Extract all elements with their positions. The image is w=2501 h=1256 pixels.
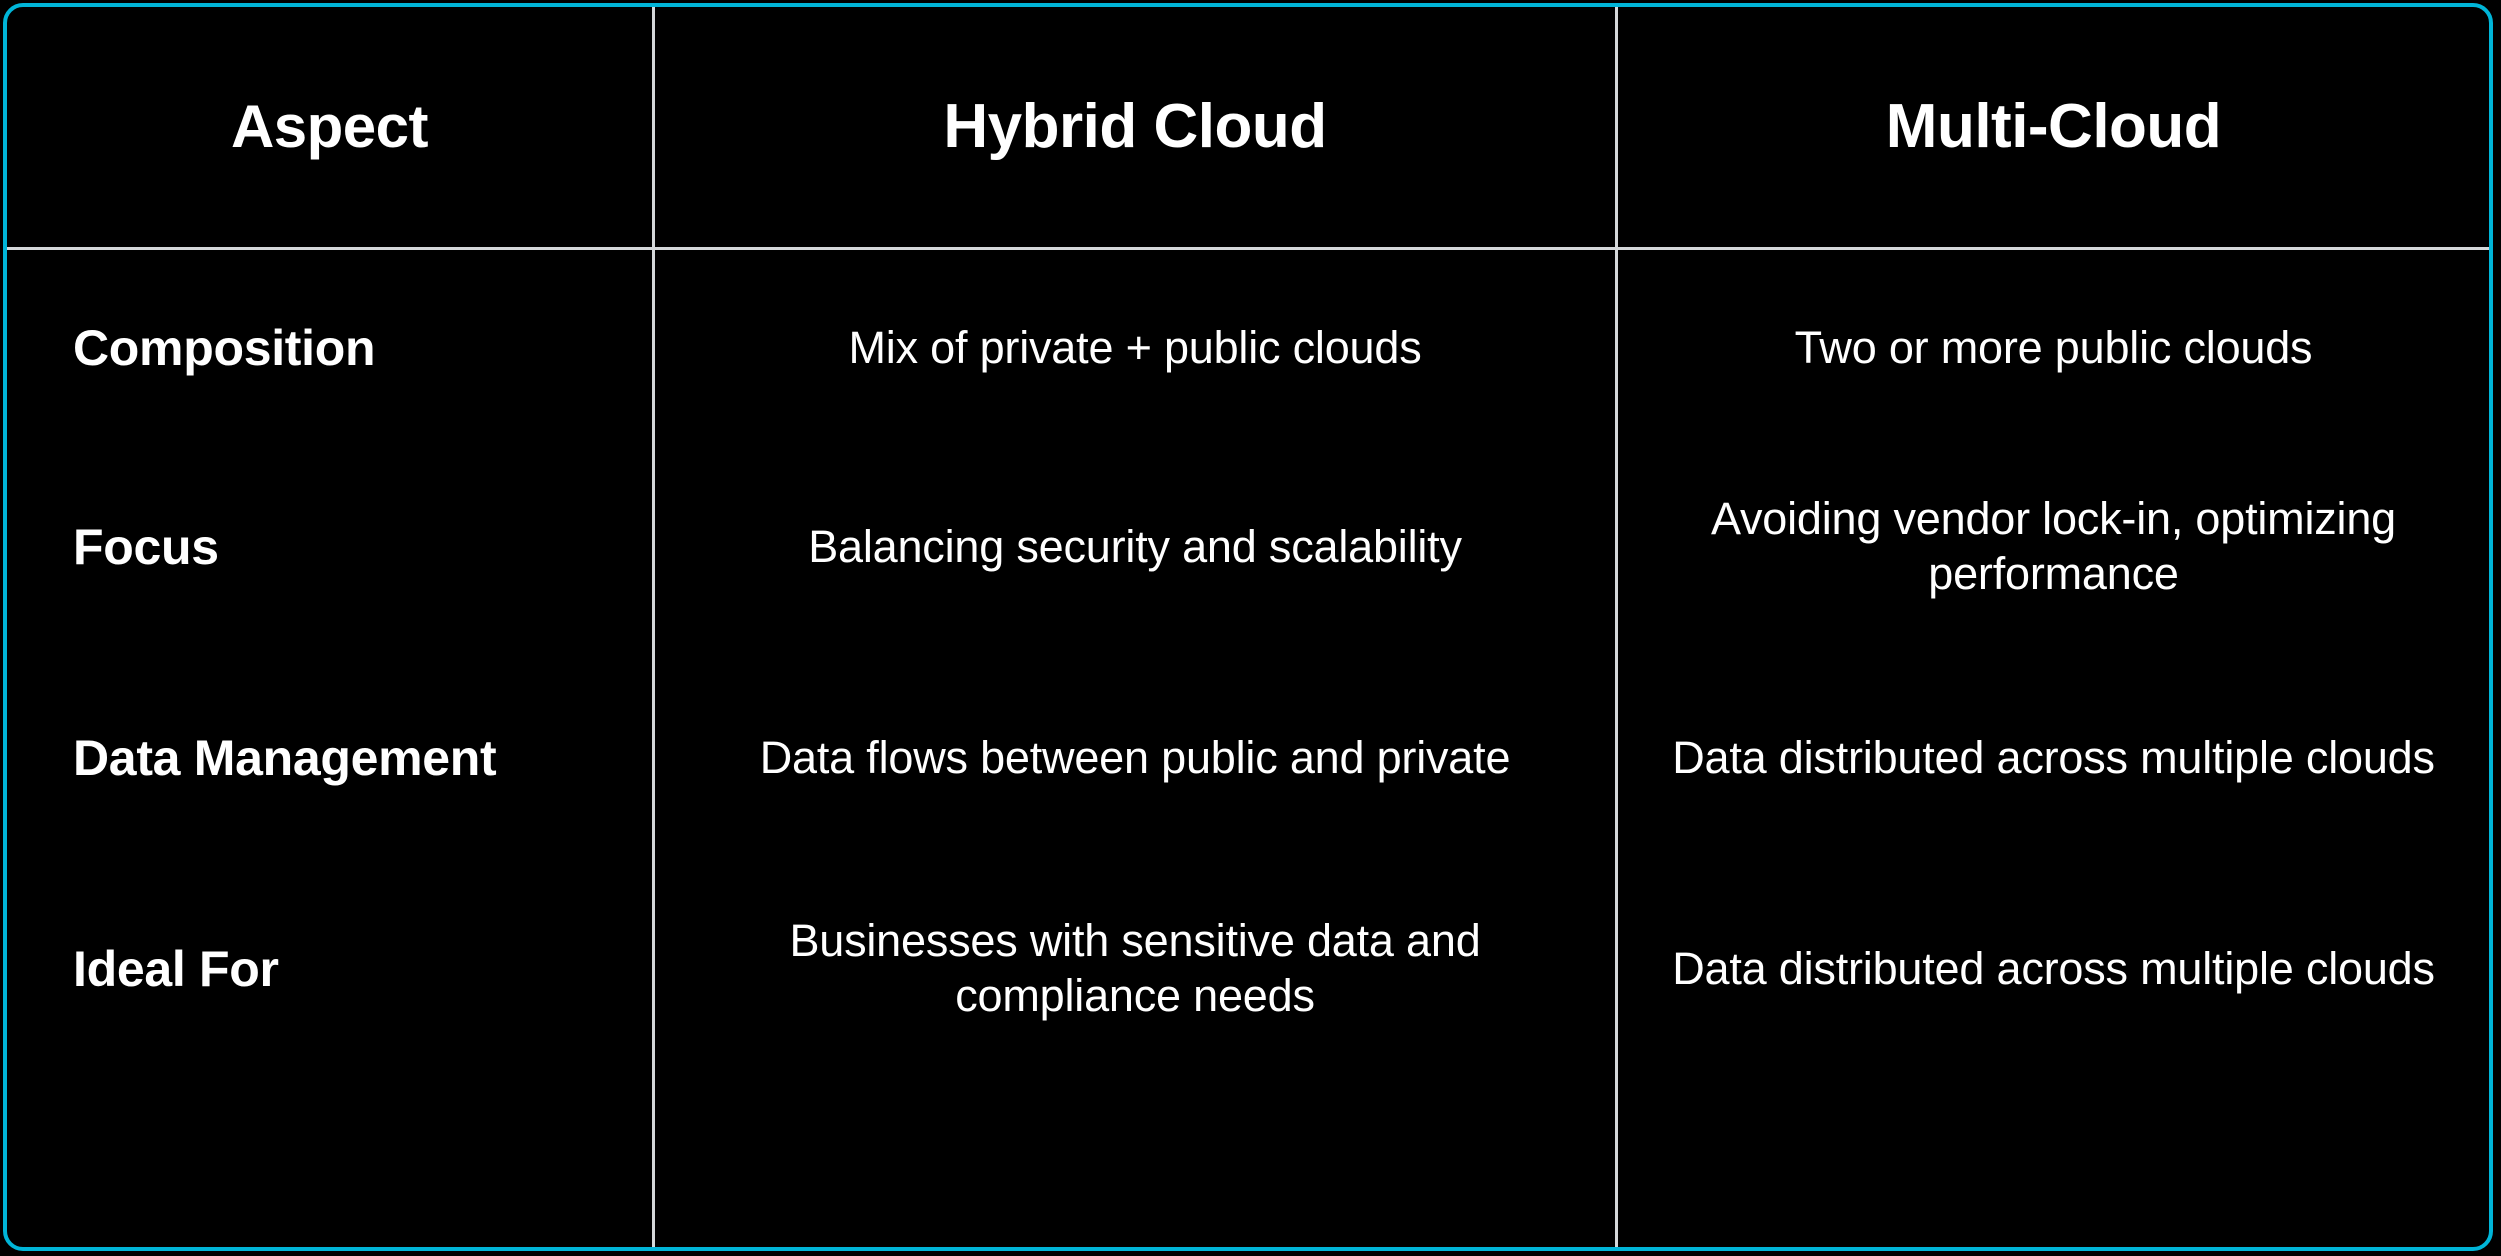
cell-multi-focus: Avoiding vendor lock-in, optimizing perf… xyxy=(1644,492,2463,602)
column-header-hybrid-cloud: Hybrid Cloud xyxy=(652,7,1615,247)
cell-aspect-data-management: Data Management xyxy=(73,728,496,789)
column-header-multi-cloud-label: Multi-Cloud xyxy=(1886,93,2221,161)
table-column-multi-cloud-filler xyxy=(1618,1069,2489,1247)
table-column-hybrid-cloud-filler xyxy=(655,1069,1615,1247)
cell-multi-composition: Two or more public clouds xyxy=(1795,321,2313,376)
cell-multi-ideal-for: Data distributed across multiple clouds xyxy=(1672,942,2435,997)
table-row: Data distributed across multiple clouds xyxy=(1618,869,2489,1069)
column-header-multi-cloud: Multi-Cloud xyxy=(1615,7,2489,247)
table-row: Mix of private + public clouds xyxy=(655,250,1615,447)
comparison-table-page: Aspect Hybrid Cloud Multi-Cloud Composit… xyxy=(0,0,2501,1256)
column-header-aspect: Aspect xyxy=(7,7,652,247)
table-row: Data Management xyxy=(7,647,652,869)
cell-hybrid-ideal-for: Businesses with sensitive data and compl… xyxy=(681,914,1589,1024)
comparison-table: Aspect Hybrid Cloud Multi-Cloud Composit… xyxy=(3,3,2493,1251)
table-row: Businesses with sensitive data and compl… xyxy=(655,869,1615,1069)
table-row: Balancing security and scalability xyxy=(655,447,1615,647)
cell-hybrid-data-management: Data flows between public and private xyxy=(760,731,1511,786)
cell-hybrid-composition: Mix of private + public clouds xyxy=(848,321,1421,376)
table-column-hybrid-cloud: Mix of private + public clouds Balancing… xyxy=(652,250,1615,1247)
cell-multi-data-management: Data distributed across multiple clouds xyxy=(1672,731,2435,786)
cell-aspect-composition: Composition xyxy=(73,318,375,379)
table-row: Two or more public clouds xyxy=(1618,250,2489,447)
table-row: Data flows between public and private xyxy=(655,647,1615,869)
table-column-aspect: Composition Focus Data Management Ideal … xyxy=(7,250,652,1247)
table-row: Focus xyxy=(7,447,652,647)
column-header-hybrid-cloud-label: Hybrid Cloud xyxy=(943,93,1326,161)
column-header-aspect-label: Aspect xyxy=(231,94,428,160)
table-header-row: Aspect Hybrid Cloud Multi-Cloud xyxy=(7,7,2489,250)
cell-hybrid-focus: Balancing security and scalability xyxy=(808,520,1462,575)
table-column-multi-cloud: Two or more public clouds Avoiding vendo… xyxy=(1615,250,2489,1247)
table-column-aspect-filler xyxy=(7,1069,652,1247)
table-row: Data distributed across multiple clouds xyxy=(1618,647,2489,869)
cell-aspect-focus: Focus xyxy=(73,517,219,578)
cell-aspect-ideal-for: Ideal For xyxy=(73,939,279,1000)
table-body: Composition Focus Data Management Ideal … xyxy=(7,250,2489,1247)
table-row: Composition xyxy=(7,250,652,447)
table-row: Ideal For xyxy=(7,869,652,1069)
table-row: Avoiding vendor lock-in, optimizing perf… xyxy=(1618,447,2489,647)
